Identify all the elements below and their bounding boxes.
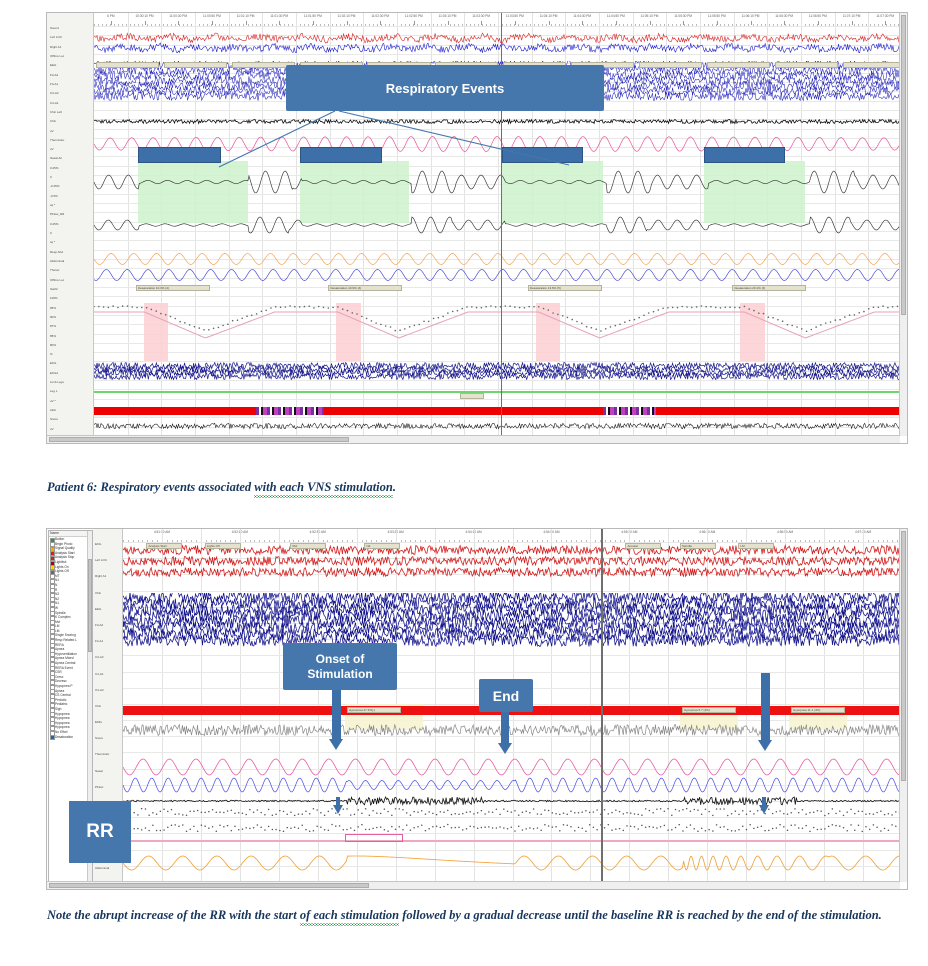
- event-list-label: Hypopnea: [55, 721, 70, 725]
- stem-third-stimulation: [761, 673, 770, 743]
- time-label-9: 11:02:50 PM: [405, 14, 423, 18]
- event-list-label: Apnea: [55, 647, 64, 651]
- caption-text-suffix: .: [393, 480, 396, 494]
- event-list-item-43[interactable]: Desaturation: [49, 735, 92, 740]
- channel-label-20: PFlow_DR: [49, 212, 91, 216]
- caption-text-part1: Note the abrupt increase of the RR with …: [47, 908, 300, 922]
- callout-line-1: Onset of: [316, 652, 365, 667]
- event-list-label: Pediatric: [55, 702, 67, 706]
- channel-label-2: Right A1: [49, 45, 91, 49]
- sleep-stage-tag[interactable]: [164, 62, 227, 68]
- caption-spellcheck-phrase: of each stimulation: [300, 906, 399, 925]
- respiratory-event-bar-3[interactable]: [704, 147, 785, 163]
- event-list-label: No Effort: [55, 730, 68, 734]
- event-list-label: LM: [55, 629, 59, 633]
- top-event-tag-5[interactable]: Spindle: [680, 543, 716, 549]
- channel-label-14: Nasal: [94, 769, 121, 773]
- channel-label-column-panel1: SoundLeft LOCRight A1Offline LocEEGF3-A2…: [47, 13, 94, 443]
- event-list-label: Hypopnea: [55, 712, 70, 716]
- stem-rr-third: [762, 797, 766, 809]
- hypopnea-tag-1[interactable]: Hypopnea 5.7 (4%): [682, 707, 736, 713]
- channel-separator: [123, 655, 907, 656]
- event-list-label: Lights On: [55, 565, 69, 569]
- channel-label-34: 80%: [49, 343, 91, 347]
- callout-leader-line: [217, 109, 337, 171]
- time-tick: [448, 21, 449, 25]
- time-label-5: 11:01:30 PM: [270, 14, 288, 18]
- callout-label: End: [493, 688, 519, 704]
- time-label-13: 11:04:10 PM: [540, 14, 558, 18]
- top-event-tag-3[interactable]: N2: [364, 543, 400, 549]
- caption-text-prefix: Patient 6: Respiratory events associated: [47, 480, 254, 494]
- channel-label-38: Limb Legs: [49, 380, 91, 384]
- arrow-down-icon-third: [758, 740, 772, 751]
- time-label-6: 11:01:50 PM: [304, 14, 322, 18]
- event-list-label: Apnea Mixed: [55, 656, 74, 660]
- channel-label-16: 0: [49, 175, 91, 179]
- channel-label-22: 0: [49, 231, 91, 235]
- time-tick: [347, 21, 348, 25]
- scrollbar-thumb[interactable]: [88, 559, 92, 652]
- channel-separator: [123, 672, 907, 673]
- event-list-label: Hypopnea P: [55, 684, 73, 688]
- channel-label-18: -0.5%: [49, 194, 91, 198]
- time-label-3: 11:00:50 PM: [203, 14, 221, 18]
- respiratory-event-bar-0[interactable]: [138, 147, 220, 163]
- channel-label-28: SaO2: [49, 287, 91, 291]
- channel-label-1: Left LOC: [49, 35, 91, 39]
- event-list-label: Hypoventilation: [55, 652, 77, 656]
- event-list-label: Lights Off: [55, 569, 69, 573]
- channel-label-26: Thorax: [49, 268, 91, 272]
- callout-leader-line-2: [337, 109, 617, 171]
- channel-label-43: uV: [49, 427, 91, 431]
- top-event-tag-2[interactable]: Mvt: [290, 543, 326, 549]
- caption-text-part2: followed by a gradual decrease until the…: [399, 908, 882, 922]
- time-label-20: 11:06:30 PM: [775, 14, 793, 18]
- callout-stem-onset: [332, 690, 341, 742]
- event-list-label: Begin Photo: [55, 542, 72, 546]
- callout-end: End: [479, 679, 533, 712]
- event-list-label: K Complex: [55, 615, 71, 619]
- channel-label-3: Chin: [94, 591, 121, 595]
- arrow-down-icon-onset: [329, 739, 343, 750]
- event-list-label: Periodic: [55, 698, 67, 702]
- channel-label-23: sq *: [49, 240, 91, 244]
- channel-label-39: Leg L: [49, 389, 91, 393]
- event-list-label: Apnea: [55, 689, 64, 693]
- event-list-label: N: [55, 583, 57, 587]
- callout-stem-end: [501, 711, 509, 745]
- event-list-label: RERA Event: [55, 666, 73, 670]
- hypopnea-tag-2[interactable]: Hypopnea 11.1 (4%): [791, 707, 845, 713]
- event-color-swatch: [50, 735, 55, 740]
- channel-label-10: Chin: [49, 119, 91, 123]
- channel-label-14: Nasal Air: [49, 156, 91, 160]
- sleep-stage-tag[interactable]: [707, 62, 770, 68]
- body-position-tag[interactable]: [460, 393, 484, 399]
- channel-label-35: %: [49, 352, 91, 356]
- caption-spellcheck-phrase: with each VNS stimulation: [254, 478, 393, 497]
- time-label-18: 11:05:50 PM: [708, 14, 726, 18]
- callout-label: RR: [86, 821, 113, 843]
- time-label-16: 11:05:10 PM: [641, 14, 659, 18]
- event-list-label: Decresc: [55, 679, 67, 683]
- event-list-label: N1: [55, 578, 59, 582]
- desaturation-tag-1[interactable]: Desaturation 10.9% (4): [328, 285, 402, 291]
- channel-label-19: sq *: [49, 203, 91, 207]
- channel-label-41: LEG: [49, 408, 91, 412]
- event-list-label: LM: [55, 624, 59, 628]
- callout-label: Respiratory Events: [386, 81, 505, 96]
- trace-snore-gray: [123, 722, 907, 738]
- event-list-label: Hypopnea: [55, 716, 70, 720]
- channel-label-27: Offline Loc: [49, 278, 91, 282]
- time-label-7: 11:02:10 PM: [338, 14, 356, 18]
- channel-label-11: uV: [49, 129, 91, 133]
- channel-label-21: 0.25%: [49, 222, 91, 226]
- time-label-1: 10:30:10 PM: [135, 14, 153, 18]
- channel-label-29: 100%: [49, 296, 91, 300]
- scrollbar-thumb[interactable]: [49, 437, 349, 442]
- sleep-stage-tag[interactable]: [96, 62, 159, 68]
- event-list-label: MT: [55, 574, 60, 578]
- event-list-label: R: [55, 588, 57, 592]
- channel-label-6: F4-A1: [49, 82, 91, 86]
- time-label-12: 11:03:50 PM: [506, 14, 524, 18]
- top-event-tag-1[interactable]: Lights Off: [205, 543, 241, 549]
- time-label-22: 11:07:10 PM: [843, 14, 861, 18]
- time-label-4: 11:01:10 PM: [237, 14, 255, 18]
- channel-label-9: Chin Left: [49, 110, 91, 114]
- psg-panel-respiratory-rate[interactable]: Name ButtonBegin PhotoSignal QualityAnal…: [46, 528, 908, 890]
- channel-separator: [123, 752, 907, 753]
- channel-label-1: Left LOC: [94, 558, 121, 562]
- channel-label-8: C4-A1: [94, 672, 121, 676]
- top-event-tag-4[interactable]: Arousal: [625, 543, 661, 549]
- limb-movement-cluster-0[interactable]: [256, 407, 325, 415]
- figure-page: SoundLeft LOCRight A1Offline LocEEGF3-A2…: [0, 0, 928, 966]
- event-list-label: Analysis Start: [55, 551, 75, 555]
- trace-eeg-navy-block: [123, 593, 907, 647]
- channel-label-0: EKG: [94, 542, 121, 546]
- callout-rr: RR: [69, 801, 131, 863]
- channel-label-33: 85%: [49, 334, 91, 338]
- horizontal-scrollbar-panel2[interactable]: [47, 881, 900, 889]
- event-list-label: Button: [55, 537, 64, 541]
- event-list-label: Cresc: [55, 675, 63, 679]
- event-list-label: Resp Related L: [55, 638, 77, 642]
- top-event-tag-6[interactable]: LM: [738, 543, 774, 549]
- desaturation-tag-0[interactable]: Desaturation 10.3% (4): [136, 285, 210, 291]
- arrow-down-icon-end: [498, 743, 512, 754]
- channel-label-25: Abdominal: [49, 259, 91, 263]
- channel-label-0: Sound: [49, 26, 91, 30]
- channel-label-6: F4-A1: [94, 639, 121, 643]
- time-label-11: 11:03:30 PM: [472, 14, 490, 18]
- event-list-label: Apnea Central: [55, 661, 75, 665]
- channel-label-17: -0.25%: [49, 184, 91, 188]
- trace-eog-red-block: [123, 544, 907, 578]
- callout-line-2: Stimulation: [307, 667, 372, 682]
- time-tick: [852, 21, 853, 25]
- event-list-label: RERA: [55, 643, 64, 647]
- trace-respiratory-rate: [123, 852, 907, 876]
- time-label-15: 11:04:50 PM: [607, 14, 625, 18]
- event-list-label: W: [55, 606, 58, 610]
- top-event-tag-0[interactable]: Analysis Start: [146, 543, 182, 549]
- time-label-19: 11:06:10 PM: [742, 14, 760, 18]
- channel-label-9: O1-A2: [94, 688, 121, 692]
- psg-panel-respiratory-events[interactable]: SoundLeft LOCRight A1Offline LocEEGF3-A2…: [46, 12, 908, 444]
- channel-label-36: EKG: [49, 361, 91, 365]
- callout-onset-of-stimulation: Onset of Stimulation: [283, 643, 397, 690]
- channel-label-40: uV *: [49, 399, 91, 403]
- event-list-label: Sigh: [55, 707, 61, 711]
- channel-label-5: F3-A2: [49, 73, 91, 77]
- desaturation-tag-3[interactable]: Desaturation 20.1% (4): [732, 285, 806, 291]
- channel-label-13: Thermistor: [94, 752, 121, 756]
- event-list-label: CS Central: [55, 693, 71, 697]
- channel-label-2: Right A1: [94, 574, 121, 578]
- figure1-caption: Patient 6: Respiratory events associated…: [47, 478, 747, 497]
- figure2-caption: Note the abrupt increase of the RR with …: [47, 906, 887, 925]
- channel-label-5: F3-A2: [94, 623, 121, 627]
- event-list-label: Hypopnea: [55, 725, 70, 729]
- hypopnea-tag-0[interactable]: Hypopnea 27.3%(-): [347, 707, 401, 713]
- time-label-23: 11:07:30 PM: [876, 14, 894, 18]
- time-label-14: 11:04:30 PM: [573, 14, 591, 18]
- stem-rr-onset: [336, 797, 340, 809]
- desaturation-tag-2[interactable]: Desaturation 13.6% (5): [528, 285, 602, 291]
- channel-label-7: C3-A2: [49, 91, 91, 95]
- channel-label-20: Abdominal: [94, 866, 121, 870]
- channel-label-4: EEG: [94, 607, 121, 611]
- limb-movement-cluster-1[interactable]: [603, 407, 656, 415]
- time-label-10: 11:03:10 PM: [439, 14, 457, 18]
- channel-label-15: PFlow: [94, 785, 121, 789]
- event-list-label: CSR: [55, 670, 62, 674]
- event-list-label: Single Snoring: [55, 633, 76, 637]
- channel-label-3: Offline Loc: [49, 54, 91, 58]
- scrollbar-thumb[interactable]: [901, 15, 906, 315]
- vertical-scrollbar-panel1[interactable]: [899, 13, 907, 436]
- channel-label-15: 0.25%: [49, 166, 91, 170]
- spo2-event-outline[interactable]: [345, 834, 403, 842]
- horizontal-scrollbar-panel1[interactable]: [47, 435, 900, 443]
- time-label-8: 11:02:30 PM: [371, 14, 389, 18]
- channel-label-10: Chin: [94, 704, 121, 708]
- time-tick: [145, 21, 146, 25]
- event-list-label: Spindle: [55, 611, 66, 615]
- event-list-label: Signal Quality: [55, 546, 75, 550]
- trace-effort-dots-0: [123, 804, 907, 820]
- strip-spo2-baseline: [123, 840, 907, 841]
- time-tick: [650, 21, 651, 25]
- channel-label-13: uV: [49, 147, 91, 151]
- time-cursor-panel2[interactable]: [601, 529, 602, 889]
- channel-label-4: EEG: [49, 63, 91, 67]
- channel-label-8: C4-A1: [49, 101, 91, 105]
- channel-label-31: 90%: [49, 315, 91, 319]
- callout-respiratory-events: Respiratory Events: [286, 65, 604, 111]
- time-label-0: 6 PM: [107, 14, 114, 18]
- time-label-17: 11:05:30 PM: [674, 14, 692, 18]
- time-tick: [549, 21, 550, 25]
- event-list-label: Analysis Stop: [55, 555, 74, 559]
- event-list-label: N3: [55, 592, 59, 596]
- channel-label-32: 87%: [49, 324, 91, 328]
- channel-label-12: Thermistor: [49, 138, 91, 142]
- channel-label-30: 95%: [49, 306, 91, 310]
- trace-effort-dots-1: [123, 820, 907, 836]
- channel-label-24: Resp Abd: [49, 250, 91, 254]
- event-list-rows[interactable]: ButtonBegin PhotoSignal QualityAnalysis …: [49, 537, 92, 739]
- event-list-label: N1: [55, 601, 59, 605]
- event-list-label: Desaturation: [55, 735, 73, 739]
- sleep-stage-tag[interactable]: [843, 62, 906, 68]
- channel-label-11: EMG: [94, 720, 121, 724]
- scrollbar-thumb[interactable]: [49, 883, 369, 888]
- time-label-21: 11:06:50 PM: [809, 14, 827, 18]
- scrollbar-thumb[interactable]: [901, 531, 906, 781]
- channel-label-37: EKG2: [49, 371, 91, 375]
- sleep-stage-tag[interactable]: [639, 62, 702, 68]
- sleep-stage-tag[interactable]: [775, 62, 838, 68]
- event-list-label: Mvt: [55, 620, 60, 624]
- time-tick: [246, 21, 247, 25]
- channel-separator: [123, 591, 907, 592]
- vertical-scrollbar-panel2[interactable]: [899, 529, 907, 882]
- channel-label-12: Snore: [94, 736, 121, 740]
- channel-label-42: Snore: [49, 417, 91, 421]
- channel-label-7: C3-A2: [94, 655, 121, 659]
- channel-separator: [123, 850, 907, 851]
- time-tick: [751, 21, 752, 25]
- event-list-label: N2: [55, 597, 59, 601]
- event-list-label: Lightbut: [55, 560, 66, 564]
- time-label-2: 11:00:30 PM: [169, 14, 187, 18]
